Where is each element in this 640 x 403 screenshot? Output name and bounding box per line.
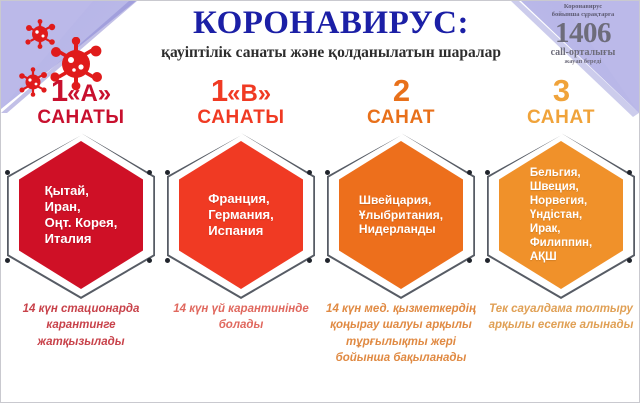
hexagon-countries-3: Швейцария,Ұлыбритания,Нидерланды xyxy=(353,193,449,237)
country-line: Норвегия, xyxy=(530,194,592,208)
country-line: Швеция, xyxy=(530,180,592,194)
category-quote-1: «А» xyxy=(67,80,111,107)
hexagon-3: Швейцария,Ұлыбритания,Нидерланды xyxy=(339,141,463,289)
call-center-line1: Коронавирус xyxy=(531,3,635,11)
hexagon-vertex-dot-3-2 xyxy=(467,170,472,175)
caption-3: 14 күн мед. қызметкердің қоңырау шалуы а… xyxy=(321,301,481,399)
hexagon-countries-1: Қытай,Иран,Оңт. Корея,Италия xyxy=(39,183,124,246)
category-label-3: САНАТ xyxy=(321,107,481,129)
hexagon-cell-1: Қытай,Иран,Оңт. Корея,Италия xyxy=(1,133,161,301)
hexagon-row: Қытай,Иран,Оңт. Корея,ИталияФранция,Герм… xyxy=(1,133,640,301)
category-label-4: САНАТ xyxy=(481,107,640,129)
country-line: Франция, xyxy=(208,191,273,207)
category-quote-2: «В» xyxy=(227,80,271,107)
category-number-3: 2 xyxy=(321,75,481,106)
caption-text-1: 14 күн стационарда карантинге жатқызылад… xyxy=(5,301,157,350)
category-number-4: 3 xyxy=(481,75,640,106)
call-center-label: call-орталығы xyxy=(531,47,635,58)
hexagon-cell-3: Швейцария,Ұлыбритания,Нидерланды xyxy=(321,133,481,301)
page-subtitle: қауіптілік санаты және қолданылатын шара… xyxy=(121,44,541,61)
hexagon-1: Қытай,Иран,Оңт. Корея,Италия xyxy=(19,141,143,289)
country-line: Қытай, xyxy=(45,183,118,199)
category-label-1: САНАТЫ xyxy=(1,107,161,129)
category-header-1: 1«А»САНАТЫ xyxy=(1,75,161,133)
category-header-4: 3САНАТ xyxy=(481,75,640,133)
country-line: Филиппин, xyxy=(530,236,592,250)
hexagon-vertex-dot-1-2 xyxy=(147,170,152,175)
hexagon-vertex-dot-2-3 xyxy=(165,258,170,263)
hexagon-4: Бельгия,Швеция,Норвегия,Үндістан,Ирак,Фи… xyxy=(499,141,623,289)
hexagon-cell-4: Бельгия,Швеция,Норвегия,Үндістан,Ирак,Фи… xyxy=(481,133,640,301)
country-line: Бельгия, xyxy=(530,166,592,180)
country-line: Германия, xyxy=(208,207,273,223)
caption-text-2: 14 күн үй карантинінде болады xyxy=(165,301,317,334)
category-header-3: 2САНАТ xyxy=(321,75,481,133)
page-title: КОРОНАВИРУС: xyxy=(121,7,541,41)
caption-4: Тек сауалдама толтыру арқылы есепке алын… xyxy=(481,301,640,399)
hexagon-vertex-dot-3-4 xyxy=(467,258,472,263)
country-line: Швейцария, xyxy=(359,193,443,208)
hexagon-countries-4: Бельгия,Швеция,Норвегия,Үндістан,Ирак,Фи… xyxy=(524,166,598,264)
hexagon-countries-2: Франция,Германия,Испания xyxy=(202,191,279,239)
category-number-2: 1«В» xyxy=(161,75,321,106)
country-line: Ирак, xyxy=(530,222,592,236)
hexagon-vertex-dot-3-1 xyxy=(325,170,330,175)
call-center-note: жауап береді xyxy=(531,58,635,66)
hexagon-cell-2: Франция,Германия,Испания xyxy=(161,133,321,301)
hexagon-vertex-dot-4-2 xyxy=(627,170,632,175)
hexagon-vertex-dot-4-1 xyxy=(485,170,490,175)
country-line: Испания xyxy=(208,223,273,239)
infographic-poster: КОРОНАВИРУС: қауіптілік санаты және қолд… xyxy=(0,0,640,403)
hexagon-vertex-dot-4-3 xyxy=(485,258,490,263)
hexagon-vertex-dot-4-4 xyxy=(627,258,632,263)
category-label-2: САНАТЫ xyxy=(161,107,321,129)
country-line: Ұлыбритания, xyxy=(359,208,443,223)
country-line: Үндістан, xyxy=(530,208,592,222)
call-center-block: Коронавирус бойынша сұрақтарға 1406 call… xyxy=(531,3,635,66)
category-number-1: 1«А» xyxy=(1,75,161,106)
category-header-row: 1«А»САНАТЫ1«В»САНАТЫ2САНАТ3САНАТ xyxy=(1,75,640,133)
caption-2: 14 күн үй карантинінде болады xyxy=(161,301,321,399)
country-line: Иран, xyxy=(45,199,118,215)
caption-1: 14 күн стационарда карантинге жатқызылад… xyxy=(1,301,161,399)
country-line: Италия xyxy=(45,231,118,247)
hexagon-vertex-dot-2-4 xyxy=(307,258,312,263)
caption-text-4: Тек сауалдама толтыру арқылы есепке алын… xyxy=(485,301,637,334)
country-line: Нидерланды xyxy=(359,222,443,237)
call-center-number: 1406 xyxy=(531,20,635,48)
poster-title-block: КОРОНАВИРУС: қауіптілік санаты және қолд… xyxy=(121,7,541,61)
hexagon-vertex-dot-1-4 xyxy=(147,258,152,263)
hexagon-vertex-dot-1-1 xyxy=(5,170,10,175)
category-header-2: 1«В»САНАТЫ xyxy=(161,75,321,133)
hexagon-vertex-dot-2-1 xyxy=(165,170,170,175)
country-line: Оңт. Корея, xyxy=(45,215,118,231)
hexagon-vertex-dot-2-2 xyxy=(307,170,312,175)
country-line: АҚШ xyxy=(530,250,592,264)
hexagon-vertex-dot-3-3 xyxy=(325,258,330,263)
hexagon-vertex-dot-1-3 xyxy=(5,258,10,263)
caption-row: 14 күн стационарда карантинге жатқызылад… xyxy=(1,301,640,399)
hexagon-2: Франция,Германия,Испания xyxy=(179,141,303,289)
caption-text-3: 14 күн мед. қызметкердің қоңырау шалуы а… xyxy=(325,301,477,366)
